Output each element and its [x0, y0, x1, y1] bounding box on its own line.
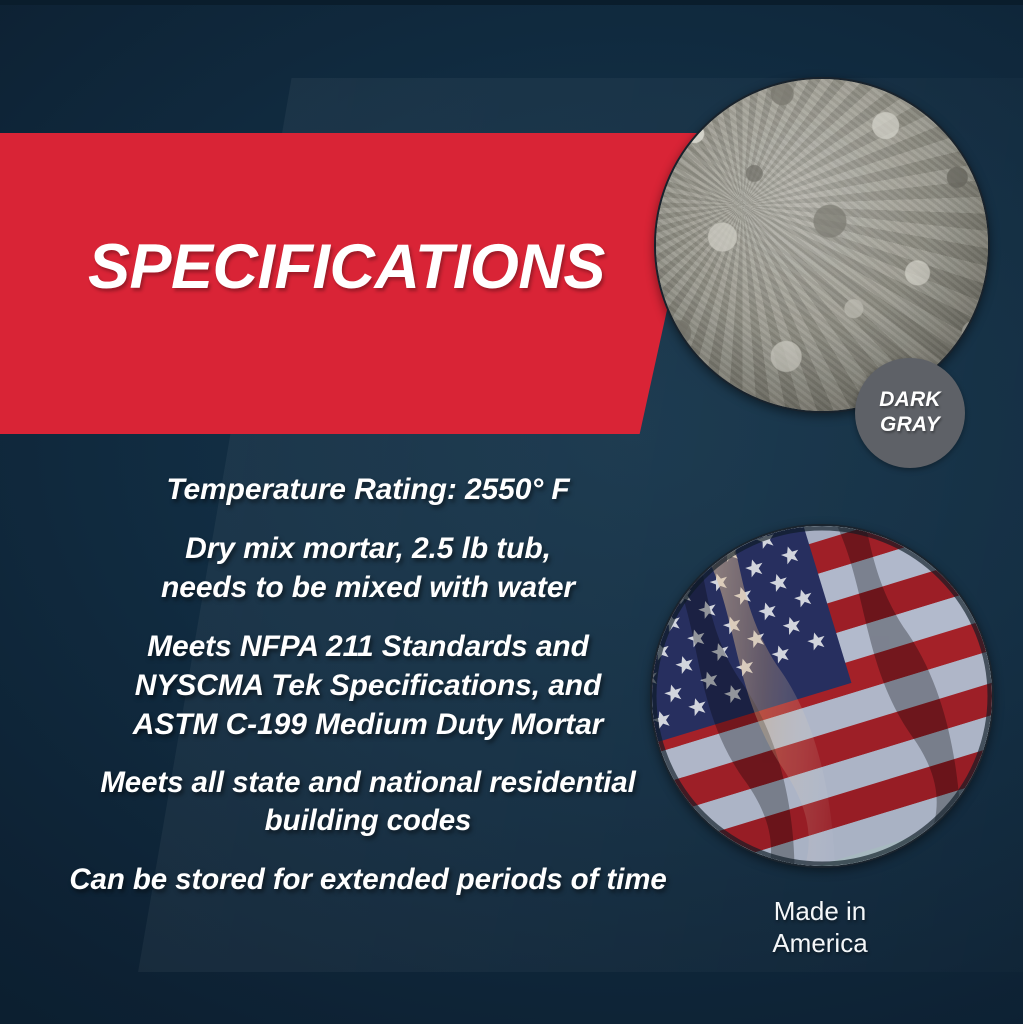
specifications-list: Temperature Rating: 2550° F Dry mix mort…: [18, 470, 718, 899]
spec-line: building codes: [18, 802, 718, 840]
page-title: SPECIFICATIONS: [88, 236, 628, 299]
spec-line: Meets NFPA 211 Standards and: [18, 627, 718, 666]
spec-line: needs to be mixed with water: [18, 568, 718, 607]
spec-line: Meets all state and national residential: [18, 764, 718, 802]
specifications-poster: SPECIFICATIONS DARK GRAY: [0, 0, 1023, 1024]
made-caption-line-2: America: [650, 928, 990, 960]
spec-item-standards: Meets NFPA 211 Standards and NYSCMA Tek …: [18, 627, 718, 744]
spec-line: Can be stored for extended periods of ti…: [18, 861, 718, 899]
spec-item-storage: Can be stored for extended periods of ti…: [18, 861, 718, 899]
made-caption-line-1: Made in: [650, 896, 990, 928]
spec-line: NYSCMA Tek Specifications, and: [18, 666, 718, 705]
spec-item-temperature-rating: Temperature Rating: 2550° F: [18, 470, 718, 509]
spec-line: Dry mix mortar, 2.5 lb tub,: [18, 529, 718, 568]
spec-item-building-codes: Meets all state and national residential…: [18, 764, 718, 841]
spec-line: ASTM C-199 Medium Duty Mortar: [18, 705, 718, 744]
mortar-powder-image: [654, 77, 990, 413]
color-badge-line-2: GRAY: [880, 413, 940, 438]
top-edge-strip: [0, 0, 1023, 5]
spec-line: Temperature Rating: 2550° F: [18, 470, 718, 509]
made-in-america-caption: Made in America: [650, 896, 990, 959]
spec-item-dry-mix-mortar: Dry mix mortar, 2.5 lb tub, needs to be …: [18, 529, 718, 607]
color-badge-line-1: DARK: [879, 388, 940, 413]
mortar-shading-overlay: [656, 79, 988, 411]
color-badge-dark-gray: DARK GRAY: [855, 358, 965, 468]
